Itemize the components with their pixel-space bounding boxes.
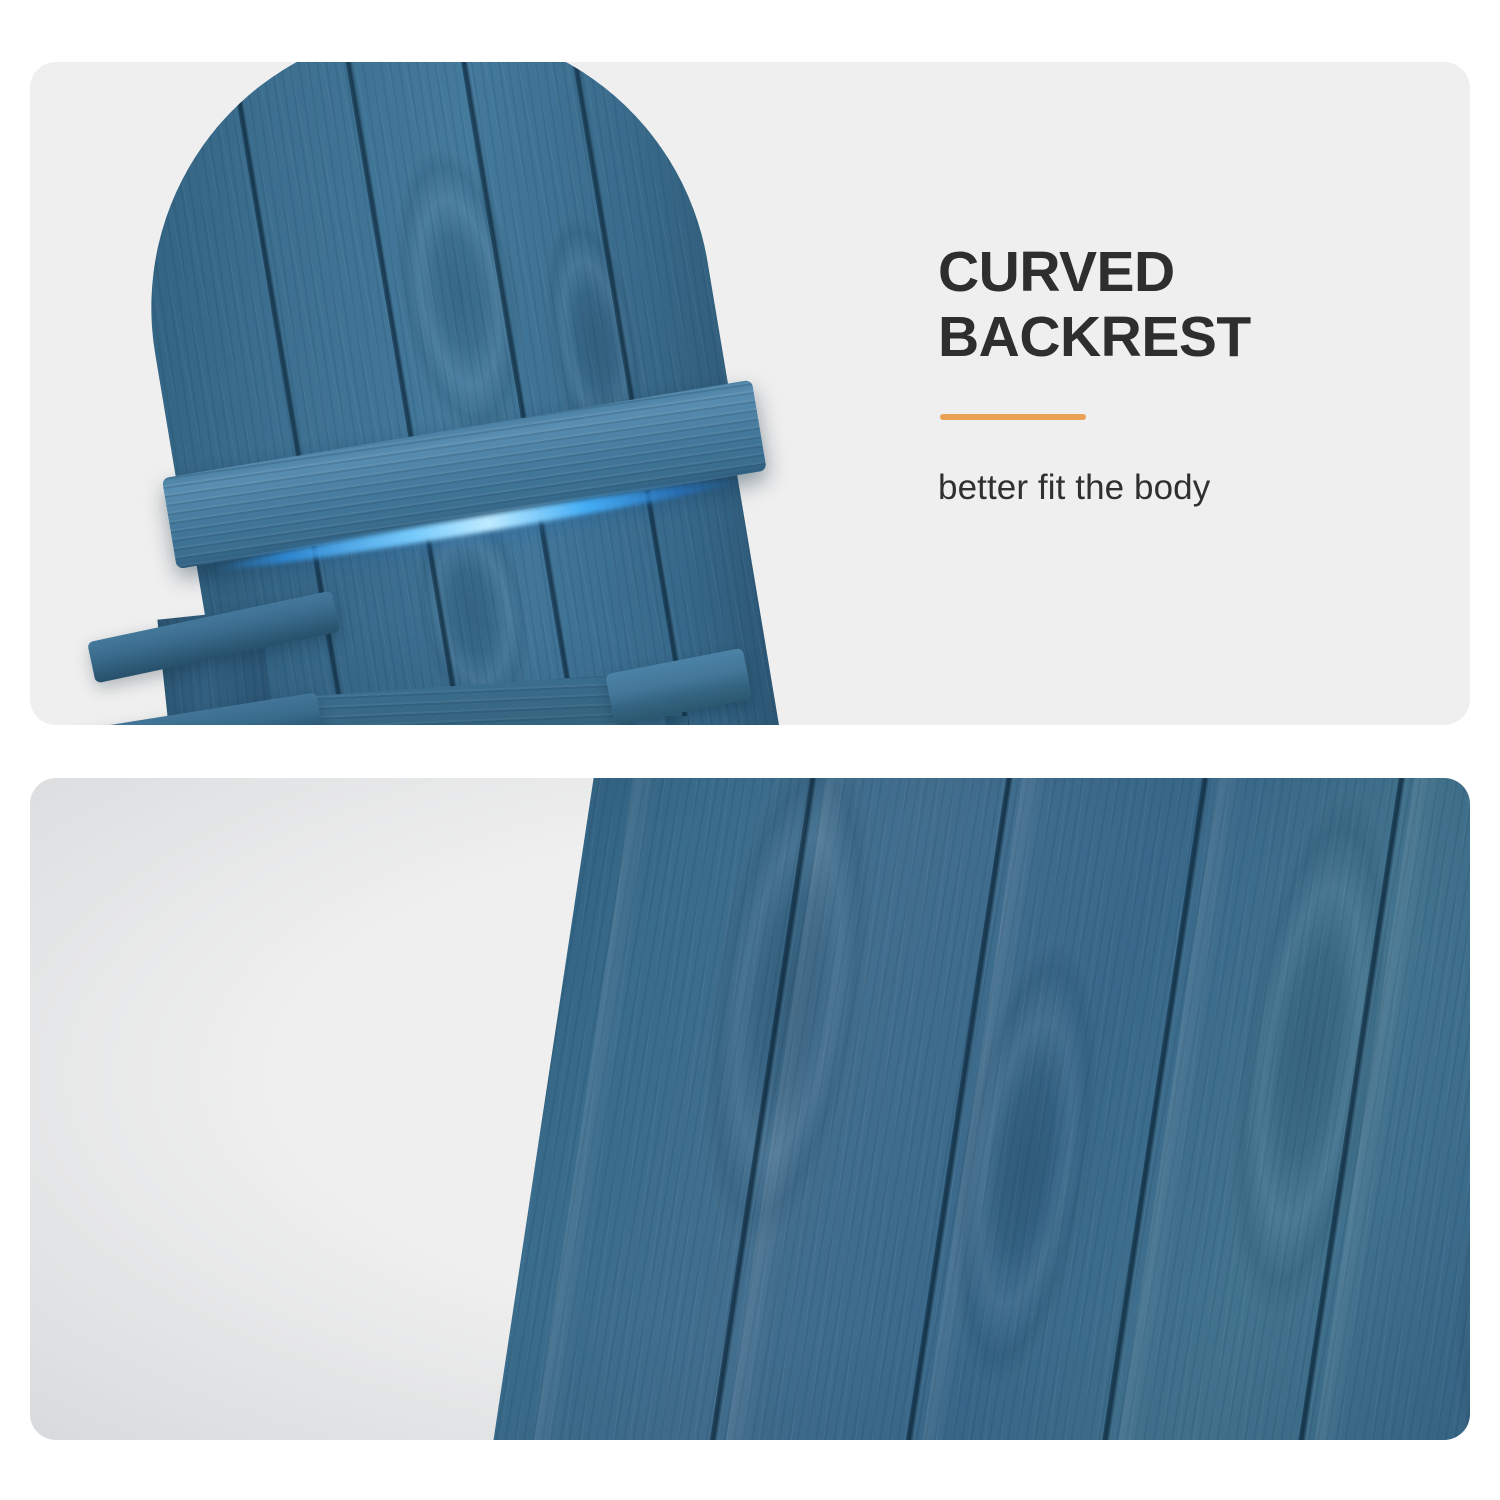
slat-highlight (477, 778, 697, 1440)
slat-gap (1224, 778, 1426, 1440)
slat-highlight (665, 778, 885, 1440)
feature-headline: CURVED BACKREST (938, 240, 1408, 370)
accent-divider (940, 414, 1086, 420)
wood-knot (1430, 1042, 1470, 1440)
chair-armrest-photo (30, 778, 1470, 1440)
marketing-image-stage: CURVED BACKREST better fit the body (0, 0, 1500, 1500)
armrest-right-brace (666, 716, 688, 725)
feature-panel-curved-backrest: CURVED BACKREST better fit the body (30, 62, 1470, 725)
slat-highlight (856, 778, 1076, 1440)
feature-panel-wide-armrests: WIDE ARMRESTS for better arm relaxation (30, 778, 1470, 1440)
feature-text-curved-backrest: CURVED BACKREST better fit the body (938, 240, 1408, 508)
backrest-slat-panel (437, 778, 1470, 1440)
feature-subline: better fit the body (938, 468, 1408, 508)
slat-highlight (1432, 778, 1470, 1440)
